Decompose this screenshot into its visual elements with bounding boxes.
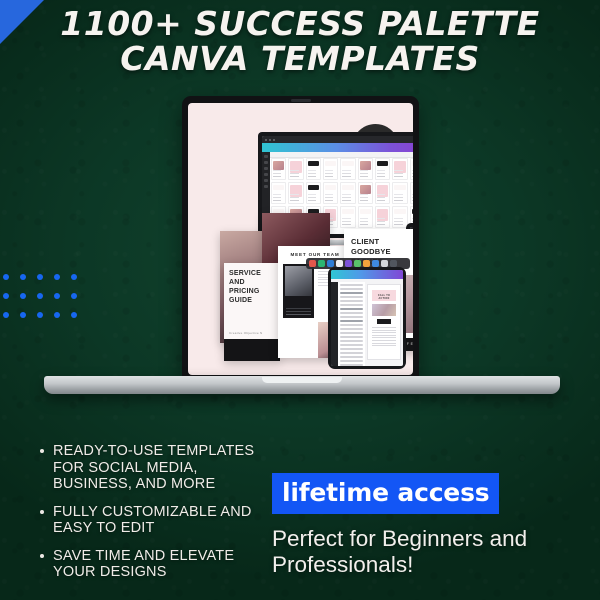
text-line	[372, 337, 396, 338]
list-item	[340, 356, 363, 358]
list-item	[340, 296, 363, 298]
bullet-point-icon	[40, 449, 44, 453]
template-thumbnail	[392, 158, 407, 180]
dot	[37, 274, 43, 280]
pricing-guide-subtitle: Creative Objective N	[229, 331, 275, 335]
pricing-guide-card: SERVICE AND PRICING GUIDE Creative Objec…	[224, 263, 280, 361]
traffic-light-icon	[273, 139, 275, 141]
dock-app-icon	[381, 260, 388, 267]
pricing-guide-title: SERVICE AND PRICING GUIDE	[229, 269, 275, 305]
template-thumbnail	[358, 182, 373, 204]
template-thumbnail	[375, 158, 390, 180]
list-item-label: SAVE TIME AND ELEVATE YOUR DESIGNS	[53, 548, 274, 581]
dot	[20, 274, 26, 280]
dock-app-icon	[327, 260, 334, 267]
promo-subtitle: Perfect for Beginners and Professionals!	[272, 526, 572, 578]
canva-appbar	[331, 270, 403, 279]
template-thumbnail	[375, 182, 390, 204]
dock-app-icon	[345, 260, 352, 267]
text-lines	[286, 314, 311, 315]
feature-list: READY-TO-USE TEMPLATES FOR SOCIAL MEDIA,…	[40, 443, 274, 592]
template-thumbnail	[410, 158, 413, 180]
browser-chrome	[262, 136, 413, 143]
canva-appbar	[262, 143, 413, 152]
list-item	[340, 332, 363, 334]
list-item	[340, 312, 363, 314]
template-thumbnail	[410, 182, 413, 204]
list-item-label: READY-TO-USE TEMPLATES FOR SOCIAL MEDIA,…	[53, 443, 274, 493]
list-item-label: FULLY CUSTOMIZABLE AND EASY TO EDIT	[53, 504, 274, 537]
list-item	[340, 324, 363, 326]
doc-body-text	[372, 327, 396, 346]
template-thumbnail	[375, 206, 390, 228]
doc-cta-button[interactable]	[377, 319, 391, 324]
list-item: READY-TO-USE TEMPLATES FOR SOCIAL MEDIA,…	[40, 443, 274, 493]
tablet-viewport: CALL TO ACTION	[331, 270, 403, 366]
tablet-layer-list	[338, 282, 365, 366]
list-item	[340, 308, 363, 310]
laptop-lid: Canva	[182, 96, 419, 381]
team-card-title: MEET OUR TEAM	[283, 252, 347, 257]
text-line	[372, 340, 396, 341]
list-item	[340, 284, 363, 286]
rail-icon	[264, 167, 268, 170]
dock-app-icon	[336, 260, 343, 267]
lifetime-access-label: lifetime access	[282, 478, 489, 507]
template-thumbnail	[288, 158, 303, 180]
text-line	[372, 335, 396, 336]
webcam-icon	[291, 99, 311, 102]
template-thumbnail	[358, 206, 373, 228]
rail-icon	[264, 173, 268, 176]
dot	[37, 312, 43, 318]
dot	[3, 293, 9, 299]
laptop-mockup: Canva	[44, 96, 560, 396]
text-line	[372, 343, 396, 344]
doc-title: CALL TO ACTION	[372, 290, 396, 300]
dot	[3, 312, 9, 318]
bullet-point-icon	[40, 554, 44, 558]
card-footer-block	[224, 339, 280, 361]
traffic-light-icon	[265, 139, 267, 141]
text-line	[372, 327, 396, 328]
template-thumbnail	[392, 182, 407, 204]
template-thumbnail	[271, 182, 286, 204]
rail-icon	[264, 185, 268, 188]
dock-app-icon	[354, 260, 361, 267]
list-item	[340, 344, 363, 346]
list-item	[340, 360, 363, 362]
template-thumbnail	[306, 182, 321, 204]
headline-line-2: CANVA TEMPLATES	[0, 41, 600, 76]
list-item	[340, 320, 363, 322]
template-thumbnail	[340, 206, 355, 228]
headline-line-1: 1100+ SUCCESS PALETTE	[60, 4, 539, 43]
dot	[3, 274, 9, 280]
laptop-screen: Canva	[188, 103, 413, 375]
template-thumbnail	[323, 158, 338, 180]
template-thumbnail	[323, 182, 338, 204]
list-item	[340, 300, 363, 302]
template-thumbnail	[392, 206, 407, 228]
text-line	[372, 345, 396, 346]
template-thumbnail	[288, 182, 303, 204]
doc-image	[372, 304, 396, 316]
page-title: 1100+ SUCCESS PALETTE CANVA TEMPLATES	[0, 6, 600, 76]
dock-app-icon	[318, 260, 325, 267]
rail-icon	[264, 179, 268, 182]
template-thumbnail	[271, 158, 286, 180]
list-item	[340, 352, 363, 354]
dock-app-icon	[390, 260, 397, 267]
traffic-light-icon	[269, 139, 271, 141]
list-item: FULLY CUSTOMIZABLE AND EASY TO EDIT	[40, 504, 274, 537]
mockup-scene: Canva	[188, 103, 413, 375]
text-line	[372, 330, 396, 331]
list-item	[340, 304, 363, 306]
bullet-point-icon	[40, 510, 44, 514]
list-item	[340, 288, 363, 290]
list-item	[340, 328, 363, 330]
dock-app-icon	[363, 260, 370, 267]
list-item	[340, 336, 363, 338]
dot	[20, 293, 26, 299]
lifetime-access-badge: lifetime access	[272, 473, 499, 514]
promo-block: lifetime access Perfect for Beginners an…	[272, 473, 572, 578]
tablet-device: CALL TO ACTION	[328, 267, 406, 369]
list-item: SAVE TIME AND ELEVATE YOUR DESIGNS	[40, 548, 274, 581]
template-thumbnail	[340, 158, 355, 180]
list-item	[340, 340, 363, 342]
dot	[37, 293, 43, 299]
list-item	[340, 292, 363, 294]
team-member-photo	[283, 264, 314, 318]
list-item	[340, 364, 363, 366]
dock-app-icon	[372, 260, 379, 267]
text-line	[372, 332, 396, 333]
laptop-base	[44, 376, 560, 394]
laptop-trackpad-notch	[262, 377, 342, 383]
template-thumbnail	[358, 158, 373, 180]
list-item	[340, 316, 363, 318]
rail-icon	[264, 161, 268, 164]
dock-app-icon	[309, 260, 316, 267]
rail-icon	[264, 155, 268, 158]
tablet-canvas: CALL TO ACTION	[367, 284, 401, 360]
list-item	[340, 348, 363, 350]
template-thumbnail	[340, 182, 355, 204]
tablet-sidebar-rail	[331, 282, 338, 366]
dot	[20, 312, 26, 318]
template-thumbnail	[306, 158, 321, 180]
doc-header: CALL TO ACTION	[372, 290, 396, 301]
